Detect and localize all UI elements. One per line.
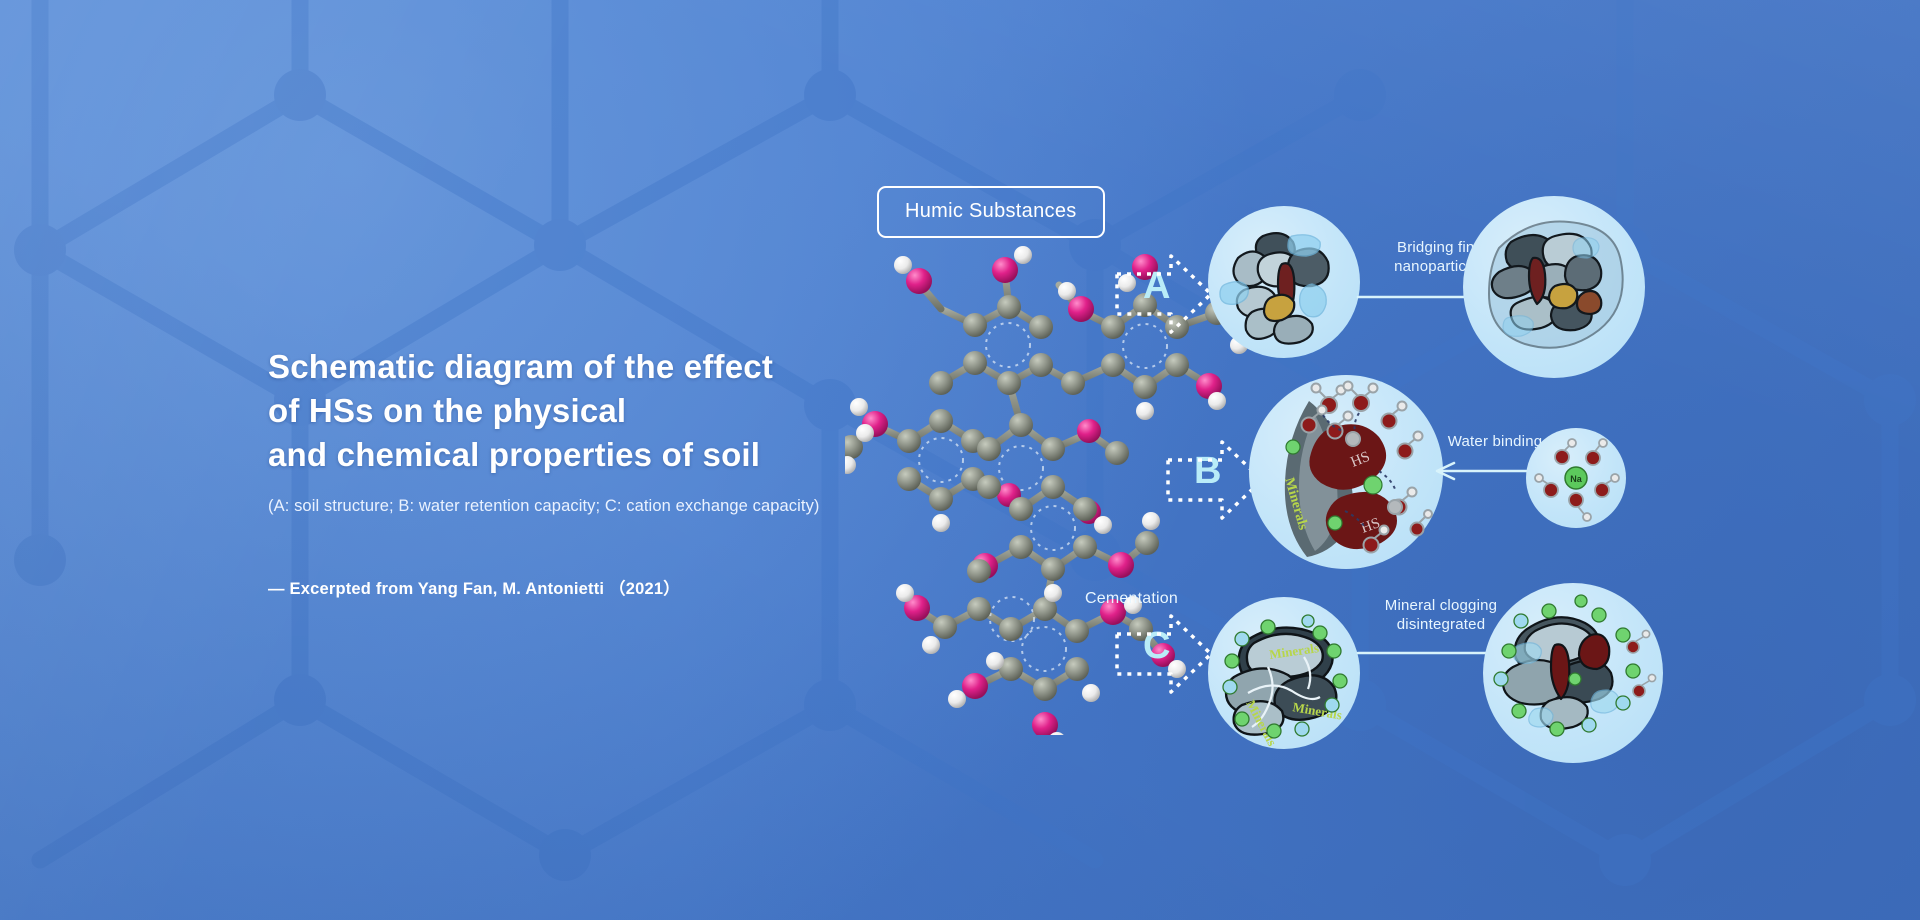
branch-marker-c-arrow (1113, 608, 1217, 700)
soil-fragments-illustration (1208, 206, 1360, 358)
branch-marker-a-arrow (1113, 248, 1217, 340)
cemented-aggregate-illustration: Minerals Minerals Minerals (1208, 597, 1360, 749)
cation-label: Na (1570, 474, 1582, 484)
disintegrated-clog-illustration (1483, 583, 1663, 763)
poster-canvas: Schematic diagram of the effect of HSs o… (0, 0, 1920, 920)
soil-aggregate-illustration (1463, 196, 1645, 378)
water-retention-illustration: HS HS Minerals (1249, 375, 1443, 569)
hydrated-cation-illustration: Na (1526, 428, 1626, 528)
